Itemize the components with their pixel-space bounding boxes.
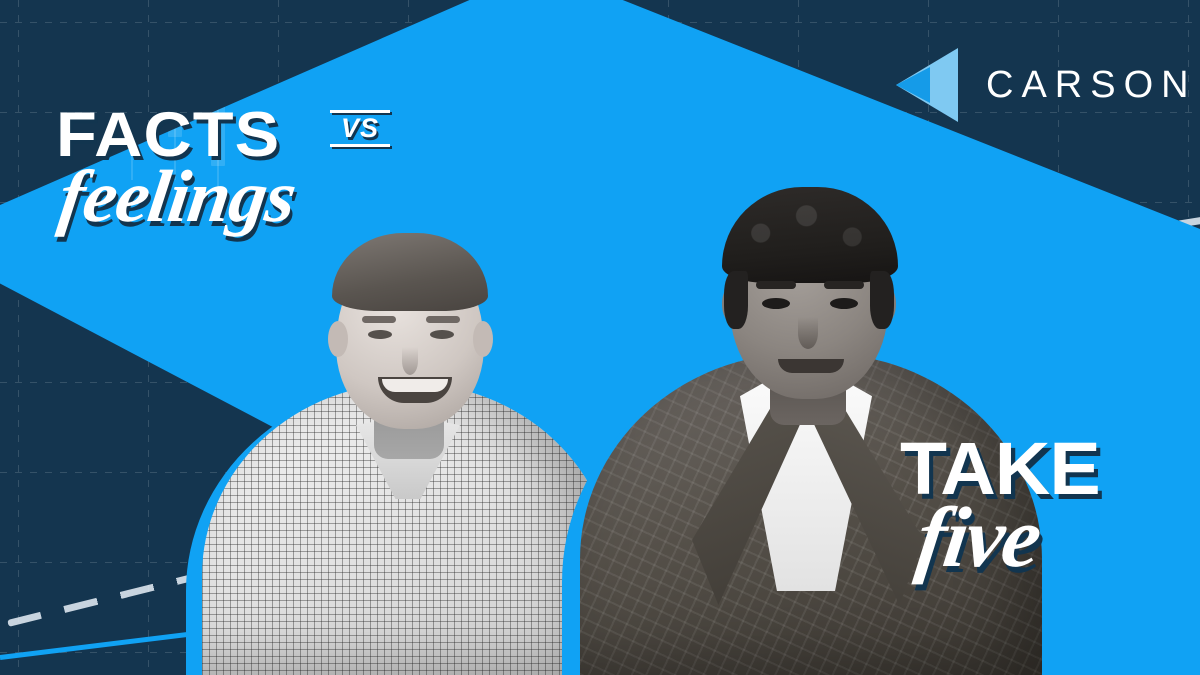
episode-five: five: [912, 494, 1045, 580]
podcast-thumbnail: FACTS VS feelings TAKE five CARSON: [0, 0, 1200, 675]
vs-rule-bottom: [330, 144, 390, 147]
episode-title-lockup: TAKE five: [900, 432, 1170, 592]
carson-logo: CARSON: [896, 48, 1197, 122]
carson-chevron-mark-icon: [896, 48, 958, 122]
title-feelings: feelings: [54, 160, 299, 234]
title-vs-badge: VS: [330, 110, 390, 147]
show-title-lockup: FACTS VS feelings: [56, 104, 386, 244]
carson-wordmark: CARSON: [986, 64, 1197, 107]
title-vs: VS: [330, 113, 390, 144]
